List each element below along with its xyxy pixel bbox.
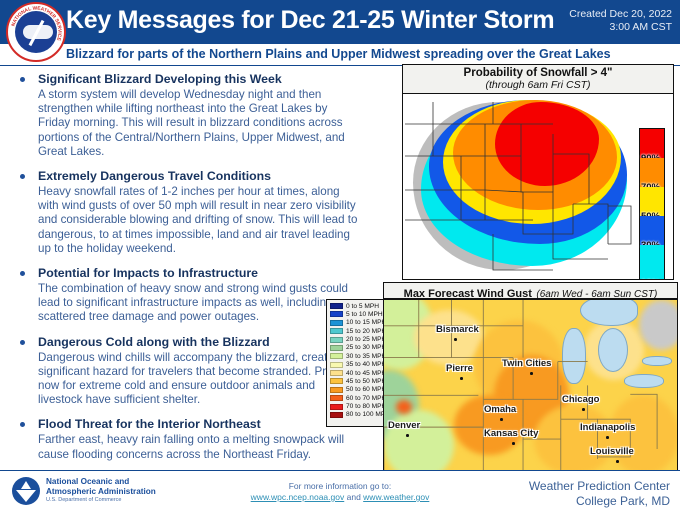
legend-label: 25 to 30 MPH	[346, 344, 386, 351]
legend-label: 5 to 10 MPH	[346, 311, 383, 318]
wind-gust-panel-header: Max Forecast Wind Gust (6am Wed - 6am Su…	[383, 282, 678, 299]
city-label-twin-cities: Twin Cities	[502, 358, 551, 369]
city-label-chicago: Chicago	[562, 394, 599, 405]
link-conjunction: and	[347, 492, 361, 502]
city-label-omaha: Omaha	[484, 404, 516, 415]
colorbar-segment-50: 50%	[640, 187, 664, 216]
bullet-dot-icon	[20, 340, 25, 345]
key-message-item: Potential for Impacts to Infrastructure …	[10, 266, 360, 325]
legend-swatch	[330, 370, 343, 376]
city-dot-omaha	[500, 418, 503, 421]
office-location: College Park, MD	[529, 494, 670, 509]
legend-label: 10 to 15 MPH	[346, 319, 386, 326]
created-date: Created Dec 20, 2022	[569, 8, 672, 21]
bullet-dot-icon	[20, 271, 25, 276]
key-message-item: Significant Blizzard Developing this Wee…	[10, 72, 360, 159]
office-name: Weather Prediction Center	[529, 479, 670, 494]
legend-swatch	[330, 395, 343, 401]
key-message-body: Farther east, heavy rain falling onto a …	[38, 433, 360, 461]
page-title: Key Messages for Dec 21-25 Winter Storm	[66, 6, 554, 35]
city-label-pierre: Pierre	[446, 363, 473, 374]
colorbar-segment-10: 10%	[640, 245, 664, 281]
wind-gust-map: Bismarck Pierre Twin Cities Denver Omaha…	[383, 299, 678, 472]
noaa-logo-icon	[12, 477, 40, 505]
city-label-indianapolis: Indianapolis	[580, 422, 635, 433]
subtitle-bar: Blizzard for parts of the Northern Plain…	[0, 44, 680, 66]
city-dot-louisville	[616, 460, 619, 463]
legend-label: 15 to 20 MPH	[346, 328, 386, 335]
snowfall-panel-subtitle: (through 6am Fri CST)	[403, 79, 673, 91]
snowfall-panel-header: Probability of Snowfall > 4" (through 6a…	[402, 64, 674, 94]
key-message-body: The combination of heavy snow and strong…	[38, 282, 360, 325]
key-message-title: Dangerous Cold along with the Blizzard	[38, 335, 360, 350]
wind-gust-panel: Max Forecast Wind Gust (6am Wed - 6am Su…	[326, 282, 678, 472]
legend-swatch	[330, 345, 343, 351]
colorbar-segment-90: 90%	[640, 129, 664, 158]
city-dot-kansas-city	[512, 442, 515, 445]
legend-swatch	[330, 404, 343, 410]
legend-swatch	[330, 320, 343, 326]
legend-swatch	[330, 378, 343, 384]
legend-label: 20 to 25 MPH	[346, 336, 386, 343]
key-message-body: A storm system will develop Wednesday ni…	[38, 88, 360, 159]
key-message-item: Flood Threat for the Interior Northeast …	[10, 417, 360, 461]
created-timestamp: Created Dec 20, 2022 3:00 AM CST	[569, 8, 672, 34]
legend-label: 0 to 5 MPH	[346, 303, 379, 310]
footer-links: www.wpc.ncep.noaa.gov and www.weather.go…	[251, 492, 430, 503]
snowfall-panel-title: Probability of Snowfall > 4"	[403, 67, 673, 79]
city-dot-bismarck	[454, 338, 457, 341]
legend-swatch	[330, 337, 343, 343]
legend-label: 35 to 40 MPH	[346, 361, 386, 368]
page-footer: National Oceanic and Atmospheric Adminis…	[0, 470, 680, 510]
noaa-line2: Atmospheric Administration	[46, 487, 156, 497]
colorbar-segment-30: 30%	[640, 216, 664, 245]
created-time: 3:00 AM CST	[569, 21, 672, 34]
snowfall-probability-panel: Probability of Snowfall > 4" (through 6a…	[402, 64, 674, 280]
city-label-kansas-city: Kansas City	[484, 428, 538, 439]
wpc-link[interactable]: www.wpc.ncep.noaa.gov	[251, 492, 345, 502]
snowfall-contours	[403, 94, 639, 278]
city-dot-denver	[406, 434, 409, 437]
city-dot-chicago	[582, 408, 585, 411]
snowfall-probability-colorbar: 90% 70% 50% 30% 10% 5%	[639, 128, 665, 280]
key-message-item: Extremely Dangerous Travel Conditions He…	[10, 169, 360, 256]
colorbar-label-10: 10%	[641, 278, 660, 280]
legend-label: 45 to 50 MPH	[346, 378, 386, 385]
key-message-title: Extremely Dangerous Travel Conditions	[38, 169, 360, 184]
legend-swatch	[330, 412, 343, 418]
legend-label: 60 to 70 MPH	[346, 395, 386, 402]
legend-swatch	[330, 387, 343, 393]
noaa-department: U.S. Department of Commerce	[46, 496, 156, 506]
page-header: Key Messages for Dec 21-25 Winter Storm …	[0, 0, 680, 44]
key-message-body: Heavy snowfall rates of 1-2 inches per h…	[38, 185, 360, 256]
city-label-bismarck: Bismarck	[436, 324, 479, 335]
city-label-louisville: Louisville	[590, 446, 634, 457]
city-dot-twin-cities	[530, 372, 533, 375]
key-messages-list: Significant Blizzard Developing this Wee…	[10, 72, 360, 472]
bullet-dot-icon	[20, 174, 25, 179]
bullet-dot-icon	[20, 77, 25, 82]
legend-swatch	[330, 328, 343, 334]
legend-label: 50 to 60 MPH	[346, 386, 386, 393]
city-dot-indianapolis	[606, 436, 609, 439]
key-message-title: Flood Threat for the Interior Northeast	[38, 417, 360, 432]
legend-swatch	[330, 353, 343, 359]
legend-swatch	[330, 311, 343, 317]
footer-info: For more information go to: www.wpc.ncep…	[251, 481, 430, 503]
city-dot-pierre	[460, 377, 463, 380]
legend-label: 40 to 45 MPH	[346, 370, 386, 377]
key-message-body: Dangerous wind chills will accompany the…	[38, 351, 360, 408]
legend-swatch	[330, 362, 343, 368]
legend-swatch	[330, 303, 343, 309]
footer-info-label: For more information go to:	[251, 481, 430, 492]
state-boundaries	[403, 94, 639, 278]
city-label-denver: Denver	[388, 420, 420, 431]
bullet-dot-icon	[20, 422, 25, 427]
key-message-title: Significant Blizzard Developing this Wee…	[38, 72, 360, 87]
legend-label: 30 to 35 MPH	[346, 353, 386, 360]
national-weather-service-seal-icon: NATIONAL WEATHER SERVICE	[6, 2, 66, 62]
noaa-agency-name: National Oceanic and Atmospheric Adminis…	[46, 477, 156, 506]
legend-label: 70 to 80 MPH	[346, 403, 386, 410]
key-message-title: Potential for Impacts to Infrastructure	[38, 266, 360, 281]
key-message-item: Dangerous Cold along with the Blizzard D…	[10, 335, 360, 408]
issuing-office: Weather Prediction Center College Park, …	[529, 479, 670, 509]
subtitle-text: Blizzard for parts of the Northern Plain…	[66, 47, 611, 61]
colorbar-segment-70: 70%	[640, 158, 664, 187]
svg-text:NATIONAL WEATHER SERVICE: NATIONAL WEATHER SERVICE	[10, 6, 62, 43]
noaa-line1: National Oceanic and	[46, 477, 156, 487]
weather-gov-link[interactable]: www.weather.gov	[363, 492, 429, 502]
snowfall-probability-map: 90% 70% 50% 30% 10% 5%	[402, 94, 674, 280]
seal-ring-text: NATIONAL WEATHER SERVICE	[8, 4, 64, 60]
